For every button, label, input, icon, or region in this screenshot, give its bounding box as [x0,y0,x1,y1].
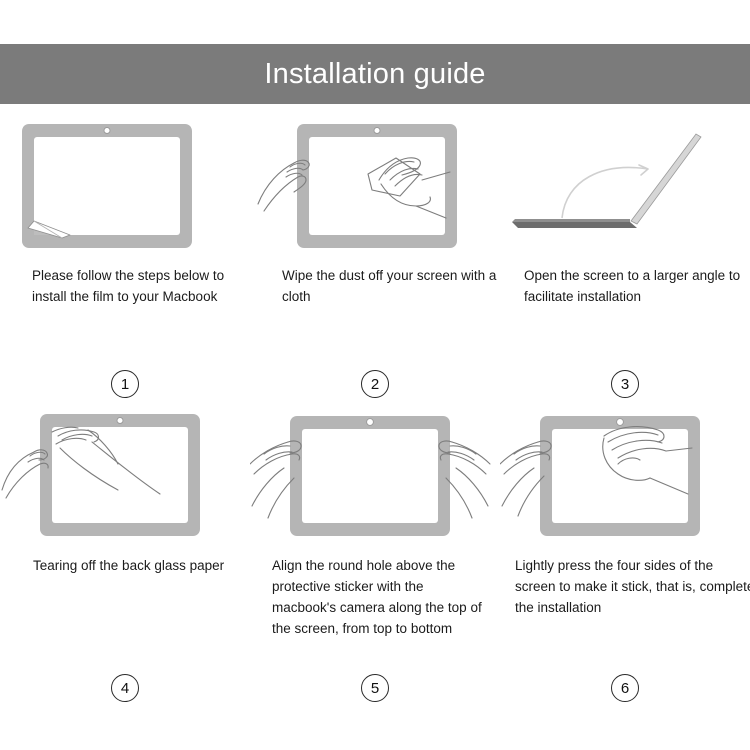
step-card-5: Align the round hole above the protectiv… [250,408,500,708]
steps-row-1: Please follow the steps below to install… [0,118,750,408]
step-card-2: Wipe the dust off your screen with a clo… [250,118,500,408]
step-6-illustration [500,408,750,543]
step-number-badge: 2 [361,370,389,398]
step-number-badge: 4 [111,674,139,702]
step-5-illustration [250,408,500,543]
step-card-4: Tearing off the back glass paper 4 [0,408,250,708]
step-4-number-wrap: 4 [0,674,250,708]
steps-grid: Please follow the steps below to install… [0,118,750,708]
step-1-caption: Please follow the steps below to install… [32,265,247,307]
step-card-1: Please follow the steps below to install… [0,118,250,408]
step-2-number-wrap: 2 [250,370,500,408]
step-4-illustration [0,408,250,543]
step-1-number-wrap: 1 [0,370,250,408]
page-title: Installation guide [264,60,485,89]
step-1-illustration [0,118,250,253]
step-number-badge: 1 [111,370,139,398]
step-number-badge: 6 [611,674,639,702]
step-3-illustration [500,118,750,253]
steps-row-2: Tearing off the back glass paper 4 [0,408,750,708]
step-number-badge: 3 [611,370,639,398]
installation-guide-page: Installation guide [0,0,750,750]
step-6-number-wrap: 6 [500,674,750,708]
step-number-badge: 5 [361,674,389,702]
step-5-number-wrap: 5 [250,674,500,708]
step-card-3: Open the screen to a larger angle to fac… [500,118,750,408]
step-2-caption: Wipe the dust off your screen with a clo… [282,265,497,307]
step-6-caption: Lightly press the four sides of the scre… [515,555,750,618]
step-3-caption: Open the screen to a larger angle to fac… [524,265,744,307]
step-2-illustration [250,118,500,253]
step-card-6: Lightly press the four sides of the scre… [500,408,750,708]
step-5-caption: Align the round hole above the protectiv… [272,555,487,639]
step-3-number-wrap: 3 [500,370,750,408]
header-banner: Installation guide [0,44,750,104]
step-4-caption: Tearing off the back glass paper [33,555,248,576]
